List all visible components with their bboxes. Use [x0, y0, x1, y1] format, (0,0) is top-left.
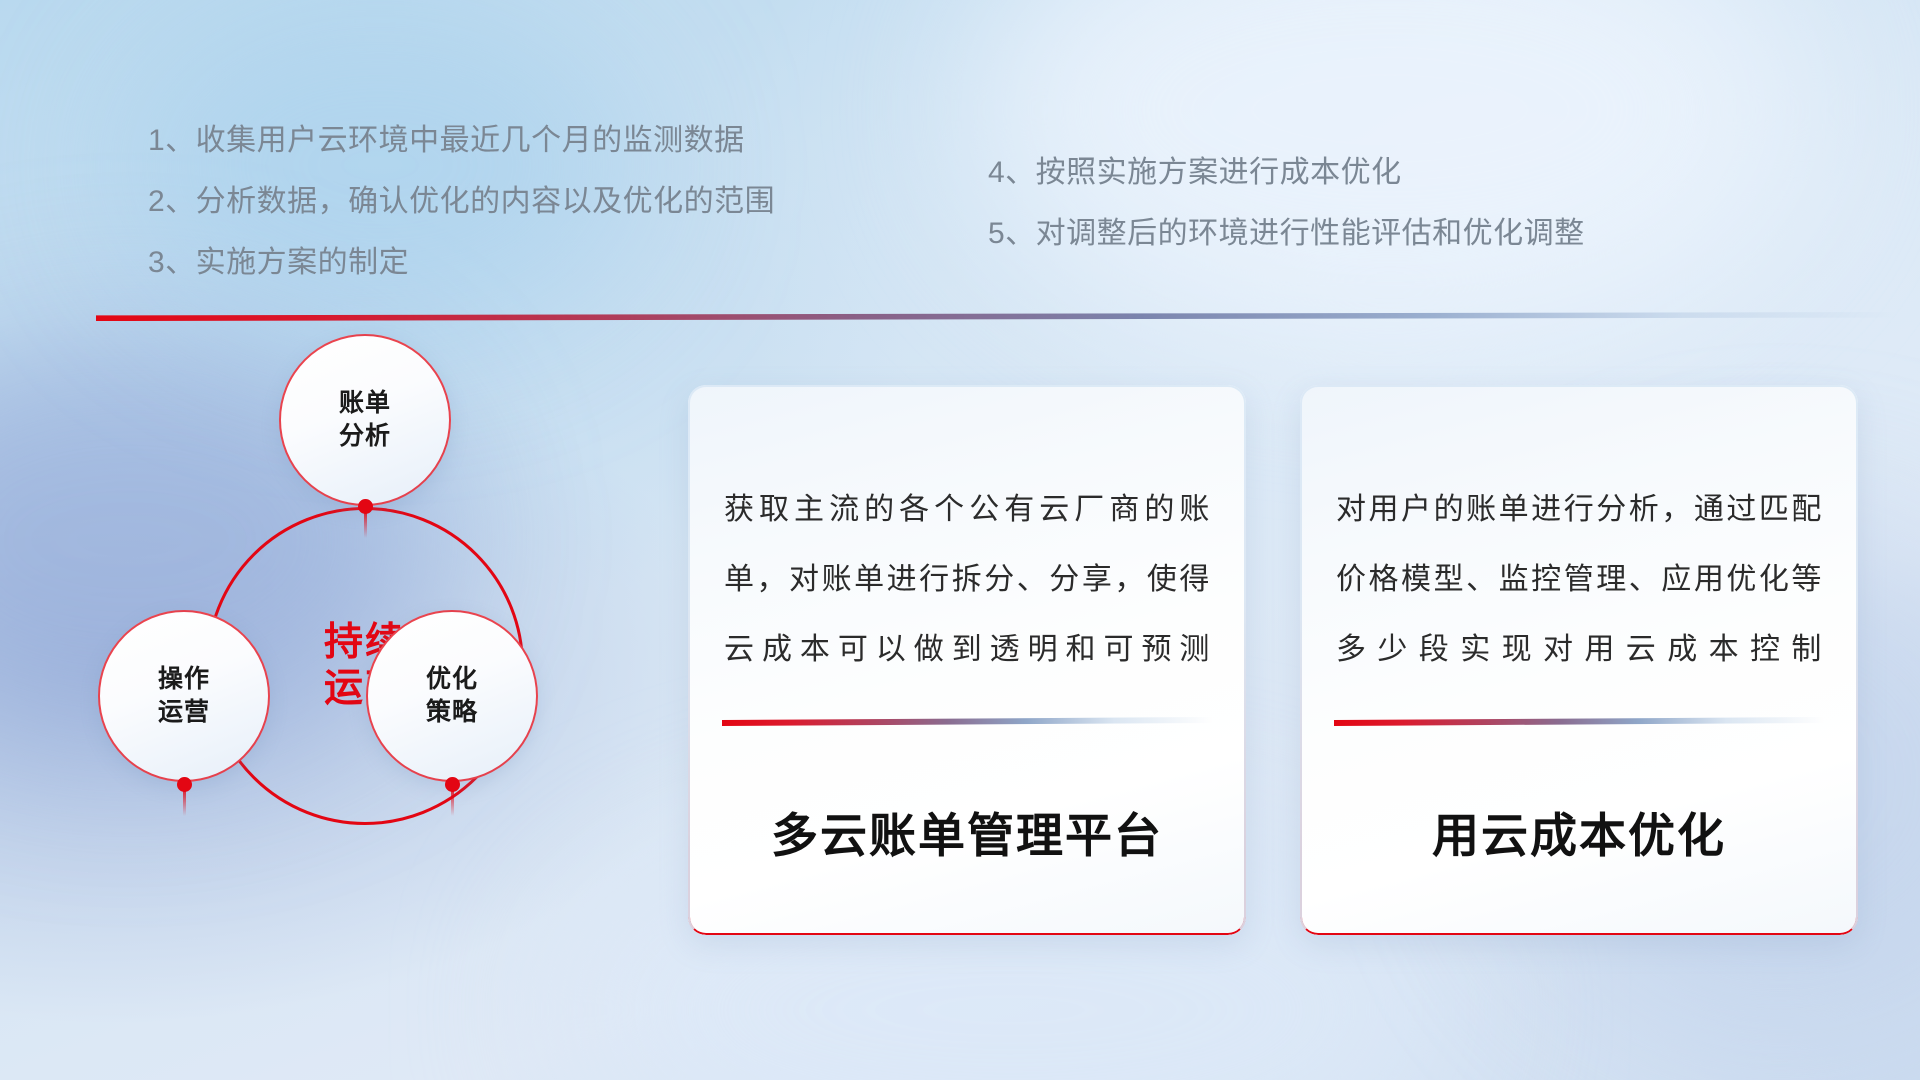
cycle-node-bill-analysis[interactable]: 账单 分析: [279, 334, 451, 506]
step-item-5: 5、对调整后的环境进行性能评估和优化调整: [988, 219, 1585, 249]
cycle-connector-dot-left: [177, 777, 192, 792]
card-body-text: 获取主流的各个公有云厂商的账单，对账单进行拆分、分享，使得云成本可以做到透明和可…: [724, 475, 1210, 685]
card-divider: [1334, 717, 1824, 726]
cycle-connector-right-tail: [451, 790, 454, 816]
cycle-diagram: 持续 运营 账单 分析 操作 运营 优化 策略: [96, 352, 656, 932]
cycle-node-optimization-strategy-line-2: 策略: [426, 696, 478, 729]
card-title: 多云账单管理平台: [724, 797, 1210, 866]
card-multicloud-billing-platform[interactable]: 获取主流的各个公有云厂商的账单，对账单进行拆分、分享，使得云成本可以做到透明和可…: [688, 385, 1246, 935]
step-item-2: 2、分析数据，确认优化的内容以及优化的范围: [148, 187, 775, 217]
steps-right-column: 4、按照实施方案进行成本优化 5、对调整后的环境进行性能评估和优化调整: [988, 158, 1585, 249]
cycle-node-operations-line-2: 运营: [158, 696, 210, 729]
cycle-node-optimization-strategy[interactable]: 优化 策略: [366, 610, 538, 782]
cycle-connector-left-tail: [183, 790, 186, 816]
card-cloud-cost-optimization[interactable]: 对用户的账单进行分析，通过匹配价格模型、监控管理、应用优化等多少段实现对用云成本…: [1300, 385, 1858, 935]
cycle-connector-dot-right: [445, 777, 460, 792]
step-item-4: 4、按照实施方案进行成本优化: [988, 158, 1585, 188]
card-title: 用云成本优化: [1336, 797, 1822, 866]
steps-left-column: 1、收集用户云环境中最近几个月的监测数据 2、分析数据，确认优化的内容以及优化的…: [148, 126, 775, 278]
cycle-node-bill-analysis-line-1: 账单: [339, 387, 391, 420]
step-item-3: 3、实施方案的制定: [148, 248, 775, 278]
cycle-connector-dot-top: [358, 499, 373, 514]
cycle-node-bill-analysis-line-2: 分析: [339, 420, 391, 453]
cycle-node-operations[interactable]: 操作 运营: [98, 610, 270, 782]
card-divider: [722, 717, 1212, 726]
cycle-node-operations-line-1: 操作: [158, 663, 210, 696]
cycle-connector-top-tail: [364, 512, 367, 538]
slide-canvas: 1、收集用户云环境中最近几个月的监测数据 2、分析数据，确认优化的内容以及优化的…: [0, 0, 1920, 1080]
section-divider: [96, 312, 1896, 321]
step-item-1: 1、收集用户云环境中最近几个月的监测数据: [148, 126, 775, 156]
card-body-text: 对用户的账单进行分析，通过匹配价格模型、监控管理、应用优化等多少段实现对用云成本…: [1336, 475, 1822, 685]
cycle-node-optimization-strategy-line-1: 优化: [426, 663, 478, 696]
